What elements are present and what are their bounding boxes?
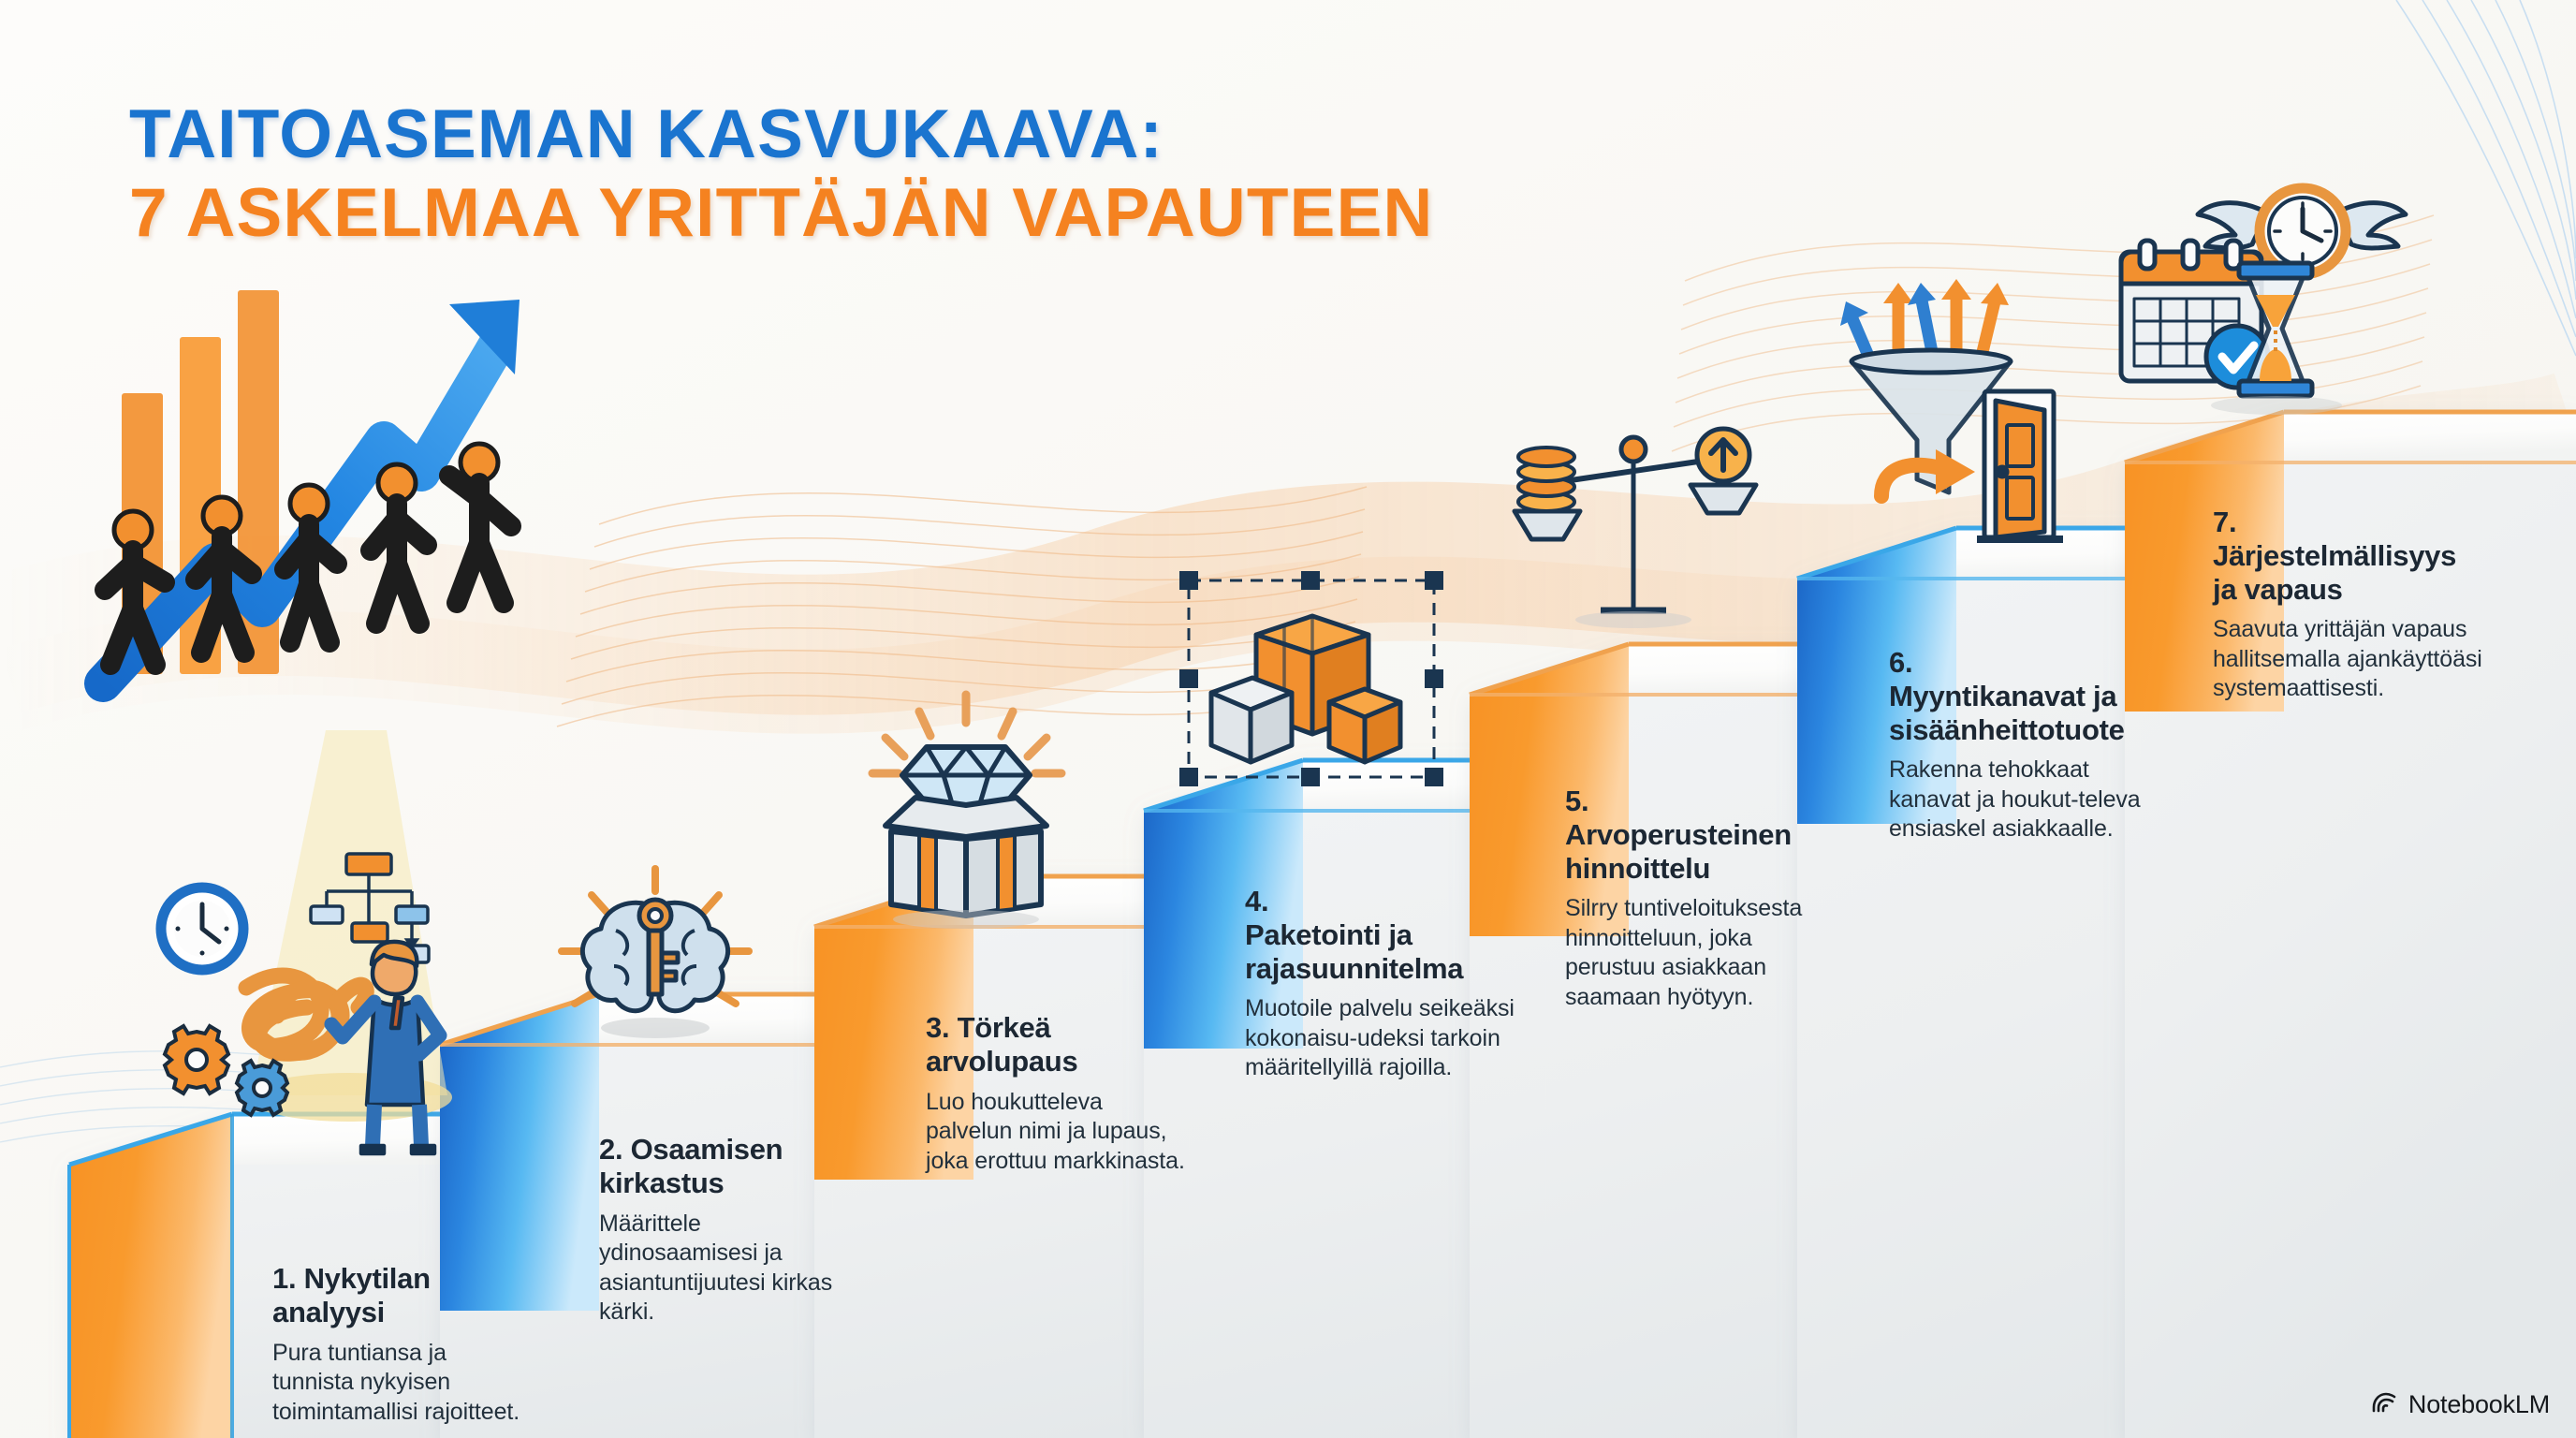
step-6-title-line1: Myyntikanavat ja <box>1889 680 2170 713</box>
step-5-title-line1: Arvoperusteinen <box>1565 818 1846 852</box>
step-2-illustration <box>524 861 786 1049</box>
open-box-icon <box>885 798 1046 916</box>
multi-arrow-icon <box>1840 279 2009 356</box>
step-card-4[interactable]: 4. Paketointi ja rajasuunnitelma Muotoil… <box>1245 885 1516 1083</box>
coin-stack-icon <box>1518 448 1574 511</box>
step-4-illustration <box>1170 562 1460 805</box>
step-3-title-line2: arvolupaus <box>926 1045 1186 1078</box>
step-card-7[interactable]: 7. Järjestelmällisyys ja vapaus Saavuta … <box>2213 506 2494 704</box>
step-1-title-line1: 1. Nykytilan <box>272 1262 527 1296</box>
step-7-description: Saavuta yrittäjän vapaus hallitsemalla a… <box>2213 615 2494 704</box>
step-3-illustration <box>833 683 1114 927</box>
step-card-2[interactable]: 2. Osaamisen kirkastus Määrittele ydinos… <box>599 1133 854 1328</box>
notebooklm-logo-icon <box>2370 1388 2398 1421</box>
step-7-title-line1: Järjestelmällisyys <box>2213 539 2494 573</box>
up-arrow-icon <box>1697 429 1749 481</box>
step-card-3[interactable]: 3. Törkeä arvolupaus Luo houkutteleva pa… <box>926 1011 1186 1176</box>
step-4-description: Muotoile palvelu seikeäksi kokonaisu-ude… <box>1245 994 1516 1083</box>
step-3-title-line1: 3. Törkeä <box>926 1011 1186 1045</box>
notebooklm-watermark: NotebookLM <box>2370 1388 2550 1421</box>
step-4-number: 4. <box>1245 885 1516 918</box>
step-5-title-line2: hinnoittelu <box>1565 852 1846 886</box>
step-5-illustration <box>1498 412 1769 655</box>
growth-chart-illustration <box>103 281 683 805</box>
step-7-illustration <box>2106 173 2415 454</box>
page-title-line2: 7 ASKELMAA YRITTÄJÄN VAPAUTEEN <box>129 177 1433 250</box>
step-card-1[interactable]: 1. Nykytilan analyysi Pura tuntiansa ja … <box>272 1262 527 1427</box>
door-icon <box>1977 391 2063 539</box>
step-1-description: Pura tuntiansa ja tunnista nykyisen toim… <box>272 1339 527 1428</box>
step-7-number: 7. <box>2213 506 2494 539</box>
step-6-description: Rakenna tehokkaat kanavat ja houkut-tele… <box>1889 756 2170 844</box>
step-7-title-line2: ja vapaus <box>2213 573 2494 607</box>
page-title-line1: TAITOASEMAN KASVUKAAVA: <box>129 98 1433 171</box>
step-card-5[interactable]: 5. Arvoperusteinen hinnoittelu Silrry tu… <box>1565 785 1846 1012</box>
notebooklm-label: NotebookLM <box>2408 1390 2550 1419</box>
step-5-description: Silrry tuntiveloituksesta hinnoitteluun,… <box>1565 894 1846 1012</box>
package-boxes-icon <box>1211 616 1400 762</box>
step-6-illustration <box>1816 262 2106 571</box>
step-card-6[interactable]: 6. Myyntikanavat ja sisäänheittotuote Ra… <box>1889 646 2170 844</box>
step-3-description: Luo houkutteleva palvelun nimi ja lupaus… <box>926 1088 1186 1177</box>
page-title: TAITOASEMAN KASVUKAAVA: 7 ASKELMAA YRITT… <box>129 98 1433 250</box>
clock-icon <box>161 888 243 970</box>
step-1-title-line2: analyysi <box>272 1296 527 1329</box>
step-4-title-line2: rajasuunnitelma <box>1245 952 1516 986</box>
step-6-number: 6. <box>1889 646 2170 680</box>
step-1-illustration <box>139 824 532 1133</box>
step-2-description: Määrittele ydinosaamisesi ja asiantuntij… <box>599 1210 854 1328</box>
step-2-title-line1: 2. Osaamisen <box>599 1133 854 1167</box>
step-2-title-line2: kirkastus <box>599 1167 854 1200</box>
step-6-title-line2: sisäänheittotuote <box>1889 713 2170 747</box>
step-5-number: 5. <box>1565 785 1846 818</box>
step-4-title-line1: Paketointi ja <box>1245 918 1516 952</box>
